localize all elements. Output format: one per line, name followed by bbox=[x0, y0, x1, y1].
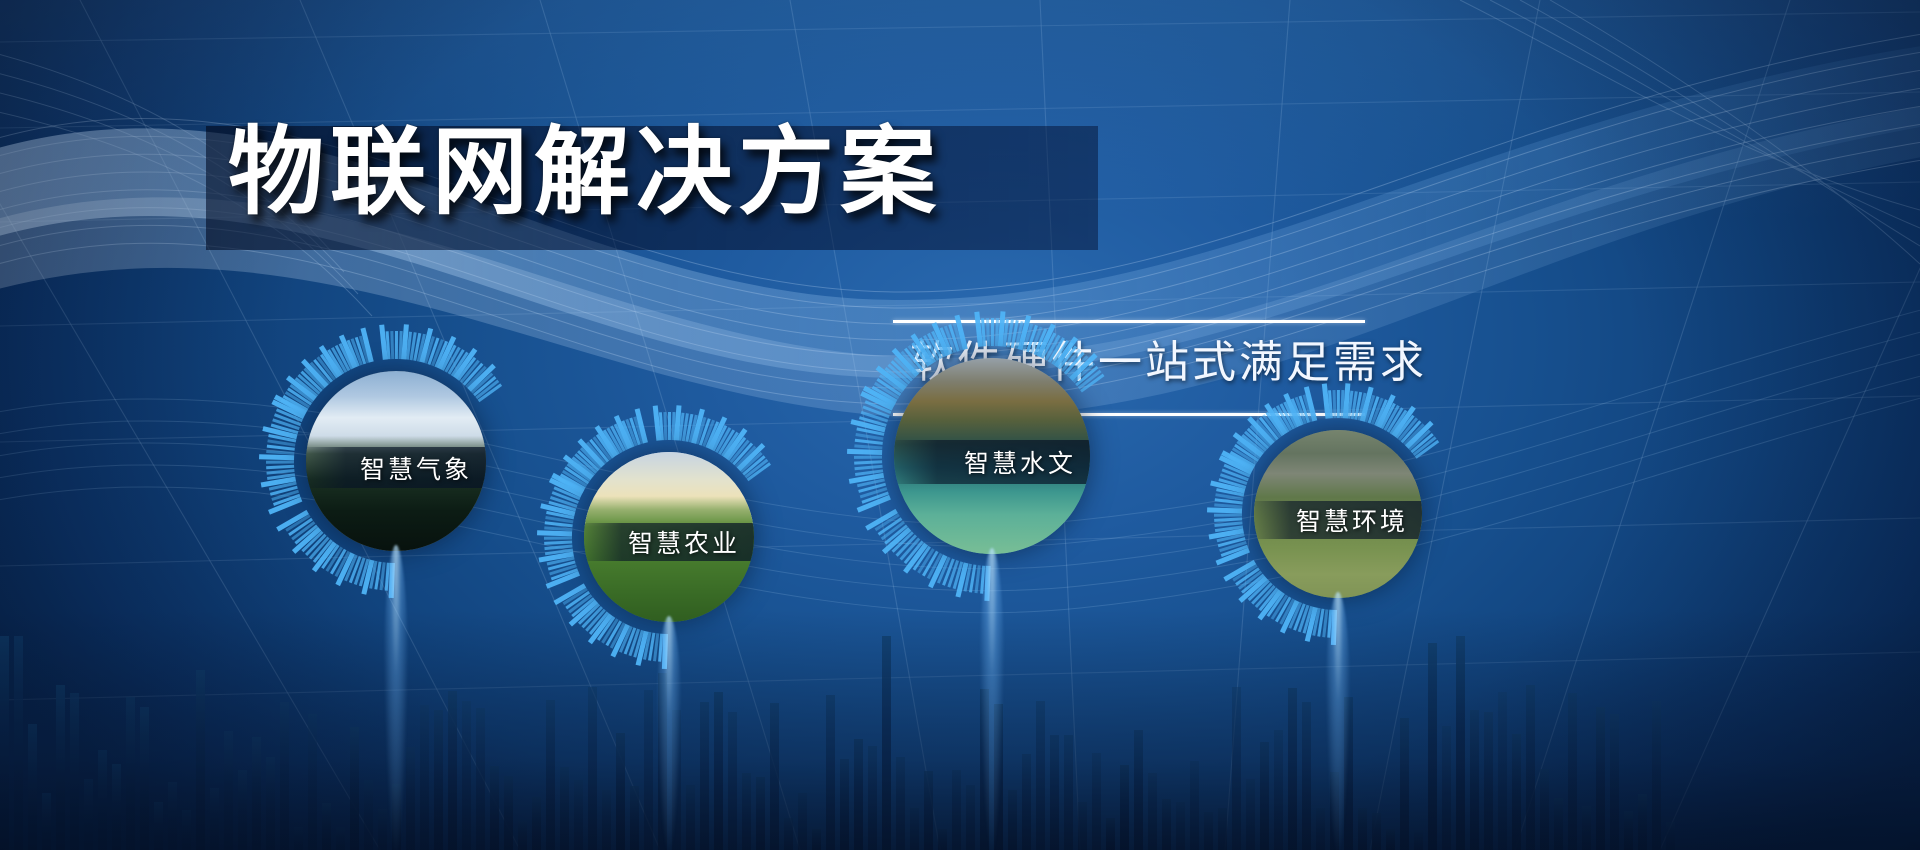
light-beam bbox=[656, 616, 682, 850]
solution-node-label: 智慧气象 bbox=[306, 447, 486, 488]
solution-node[interactable]: 智慧农业 bbox=[528, 396, 810, 678]
solution-node[interactable]: 智慧水文 bbox=[838, 302, 1146, 610]
solution-node-label: 智慧水文 bbox=[894, 440, 1090, 484]
solution-node[interactable]: 智慧气象 bbox=[250, 315, 542, 607]
solution-node-label: 智慧农业 bbox=[584, 523, 754, 561]
page-title: 物联网解决方案 bbox=[228, 116, 1128, 229]
bottom-haze bbox=[0, 610, 1920, 850]
solution-node-label: 智慧环境 bbox=[1254, 501, 1422, 539]
light-beam bbox=[1325, 592, 1351, 850]
solution-node[interactable]: 智慧环境 bbox=[1198, 374, 1478, 654]
solution-node-image[interactable]: 智慧环境 bbox=[1254, 430, 1422, 598]
light-beam bbox=[979, 548, 1005, 850]
banner-stage: 物联网解决方案 软件硬件一站式满足需求 智慧气象 bbox=[0, 0, 1920, 850]
solution-node-image[interactable]: 智慧气象 bbox=[306, 371, 486, 551]
light-beam bbox=[383, 545, 409, 850]
solution-node-image[interactable]: 智慧农业 bbox=[584, 452, 754, 622]
solution-node-image[interactable]: 智慧水文 bbox=[894, 358, 1090, 554]
